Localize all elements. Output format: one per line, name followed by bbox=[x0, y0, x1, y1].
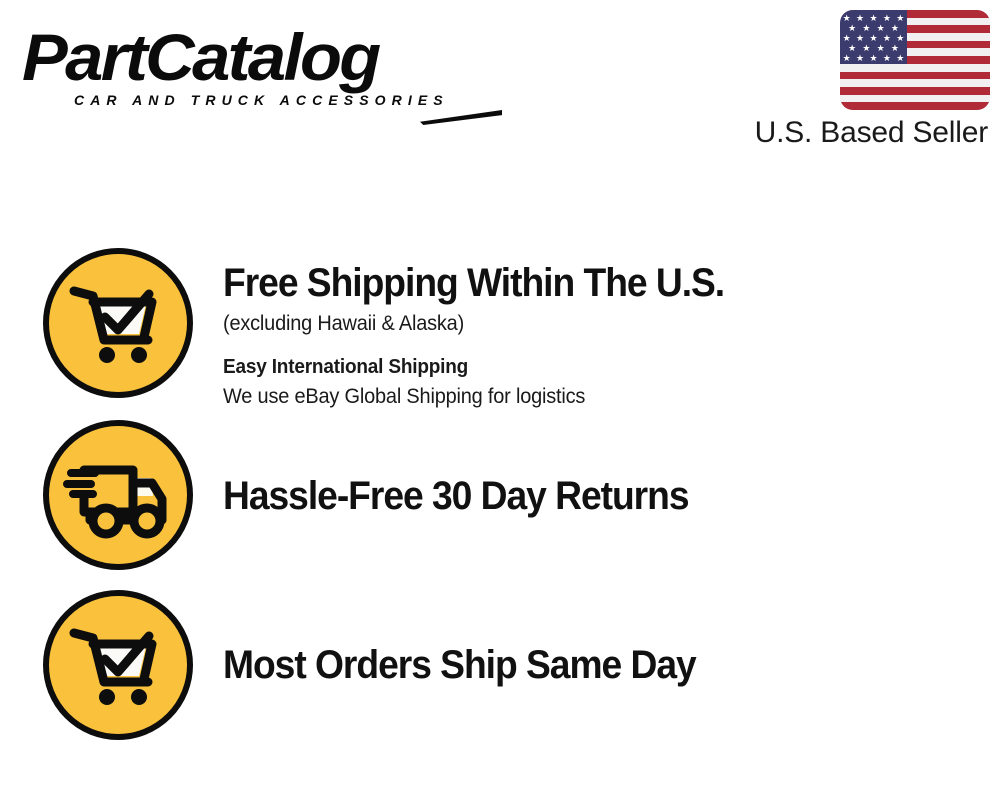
feature-subtext: We use eBay Global Shipping for logistic… bbox=[223, 382, 945, 412]
shopping-cart-check-icon bbox=[43, 590, 193, 740]
feature-text-block: Free Shipping Within The U.S. (excluding… bbox=[223, 260, 983, 412]
feature-row: Most Orders Ship Same Day bbox=[0, 590, 1000, 762]
feature-list: Free Shipping Within The U.S. (excluding… bbox=[0, 170, 1000, 800]
flag-canton: ★★★★★ ★★★★ ★★★★★ ★★★★ ★★★★★ bbox=[840, 10, 907, 64]
brand-logo[interactable]: PartCatalog CAR AND TRUCK ACCESSORIES bbox=[22, 24, 492, 108]
us-flag-icon: ★★★★★ ★★★★ ★★★★★ ★★★★ ★★★★★ bbox=[840, 10, 990, 110]
logo-wordmark: PartCatalog bbox=[22, 24, 511, 90]
feature-heading: Hassle-Free 30 Day Returns bbox=[223, 473, 930, 519]
feature-text-block: Most Orders Ship Same Day bbox=[223, 642, 983, 688]
page-header: PartCatalog CAR AND TRUCK ACCESSORIES ★★… bbox=[0, 0, 1000, 170]
feature-row: Free Shipping Within The U.S. (excluding… bbox=[0, 248, 1000, 420]
feature-subtext-strong: Easy International Shipping bbox=[223, 352, 945, 382]
feature-text-block: Hassle-Free 30 Day Returns bbox=[223, 473, 983, 519]
feature-subtext: (excluding Hawaii & Alaska) bbox=[223, 309, 945, 339]
us-based-seller-label: U.S. Based Seller bbox=[500, 116, 988, 150]
feature-heading: Free Shipping Within The U.S. bbox=[223, 260, 930, 306]
shopping-cart-check-icon bbox=[43, 248, 193, 398]
delivery-truck-icon bbox=[43, 420, 193, 570]
feature-row: Hassle-Free 30 Day Returns bbox=[0, 420, 1000, 592]
feature-heading: Most Orders Ship Same Day bbox=[223, 642, 930, 688]
logo-swoosh-icon bbox=[420, 110, 502, 125]
logo-tagline: CAR AND TRUCK ACCESSORIES bbox=[74, 92, 492, 108]
